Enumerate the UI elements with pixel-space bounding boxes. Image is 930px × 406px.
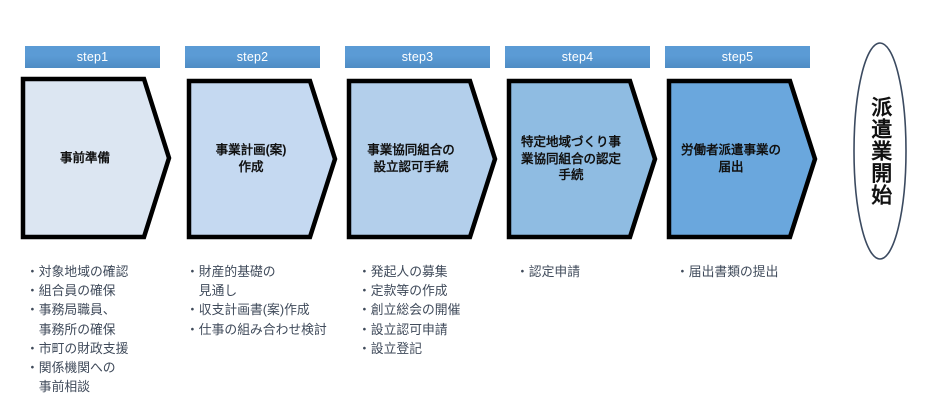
- final-state-ellipse: 派遣業開始: [851, 40, 909, 262]
- step-header-label: step4: [562, 51, 594, 64]
- step-header-label: step5: [722, 51, 754, 64]
- step-header-label: step3: [402, 51, 434, 64]
- bullet-list-step3: ・発起人の募集 ・定款等の作成 ・創立総会の開催 ・設立認可申請 ・設立登記: [358, 262, 508, 358]
- step-header-step5: step5: [665, 46, 810, 68]
- step-header-step1: step1: [25, 46, 160, 68]
- step-header-label: step2: [237, 51, 269, 64]
- bullet-item: ・事務局職員、 事務所の確保: [26, 300, 178, 338]
- final-state-label-wrap: 派遣業開始: [851, 40, 909, 262]
- bullet-item: ・対象地域の確認: [26, 262, 178, 281]
- chevron-label-step1: 事前準備: [20, 76, 150, 240]
- step-header-label: step1: [77, 51, 109, 64]
- bullet-item: ・関係機関への 事前相談: [26, 358, 178, 396]
- step-header-step4: step4: [505, 46, 650, 68]
- chevron-step5: 労働者派遣事業の 届出: [666, 78, 818, 240]
- process-flow-diagram: step1 事前準備 ・対象地域の確認 ・組合員の確保 ・事務局職員、 事務所の…: [0, 0, 930, 406]
- chevron-step4: 特定地域づくり事 業協同組合の認定 手続: [506, 78, 658, 240]
- bullet-list-step5: ・届出書類の提出: [676, 262, 826, 281]
- bullet-list-step4: ・認定申請: [516, 262, 656, 281]
- chevron-label-step3: 事業協同組合の 設立認可手続: [346, 78, 476, 240]
- chevron-label-step5: 労働者派遣事業の 届出: [666, 78, 796, 240]
- bullet-item: ・発起人の募集: [358, 262, 508, 281]
- chevron-label-step2: 事業計画(案) 作成: [186, 78, 316, 240]
- bullet-item: ・仕事の組み合わせ検討: [186, 320, 356, 339]
- chevron-label-step4: 特定地域づくり事 業協同組合の認定 手続: [506, 78, 636, 240]
- bullet-item: ・設立認可申請: [358, 320, 508, 339]
- chevron-step1: 事前準備: [20, 76, 172, 240]
- bullet-item: ・創立総会の開催: [358, 300, 508, 319]
- bullet-list-step2: ・財産的基礎の 見通し ・収支計画書(案)作成 ・仕事の組み合わせ検討: [186, 262, 356, 339]
- bullet-item: ・定款等の作成: [358, 281, 508, 300]
- step-header-step2: step2: [185, 46, 320, 68]
- chevron-step3: 事業協同組合の 設立認可手続: [346, 78, 498, 240]
- bullet-item: ・届出書類の提出: [676, 262, 826, 281]
- bullet-item: ・市町の財政支援: [26, 339, 178, 358]
- chevron-step2: 事業計画(案) 作成: [186, 78, 338, 240]
- bullet-item: ・認定申請: [516, 262, 656, 281]
- step-header-step3: step3: [345, 46, 490, 68]
- bullet-item: ・設立登記: [358, 339, 508, 358]
- final-state-label: 派遣業開始: [868, 96, 892, 206]
- bullet-item: ・収支計画書(案)作成: [186, 300, 356, 319]
- bullet-list-step1: ・対象地域の確認 ・組合員の確保 ・事務局職員、 事務所の確保 ・市町の財政支援…: [26, 262, 178, 396]
- bullet-item: ・財産的基礎の 見通し: [186, 262, 356, 300]
- bullet-item: ・組合員の確保: [26, 281, 178, 300]
